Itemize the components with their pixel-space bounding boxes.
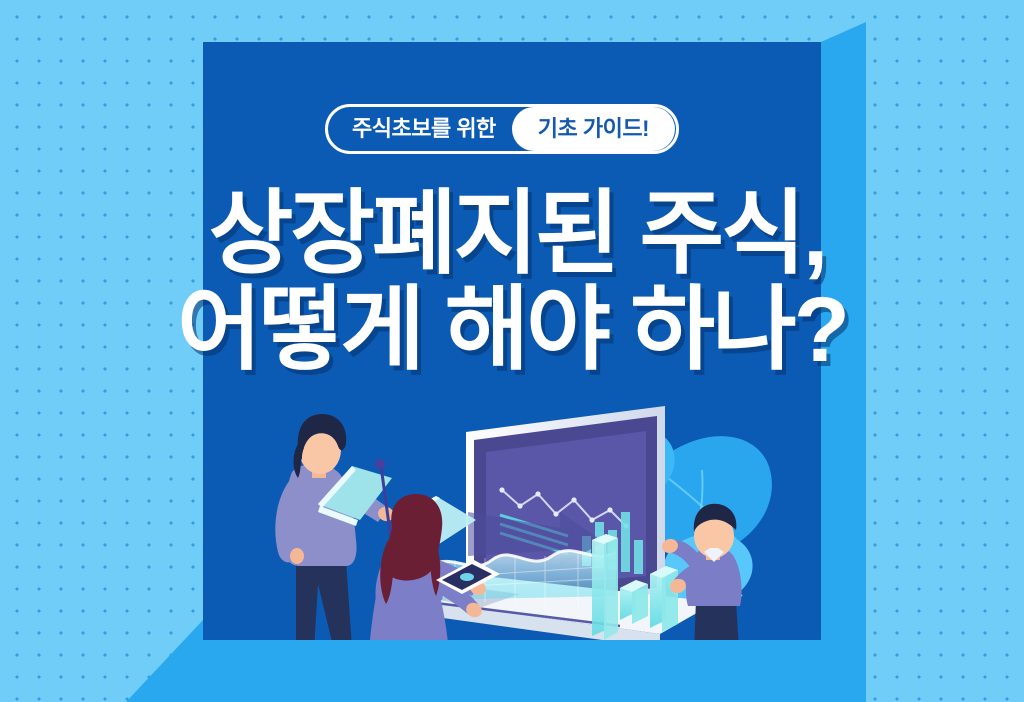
standing-woman-with-document bbox=[275, 414, 396, 690]
poster-canvas: 주식초보를 위한 기초 가이드! 상장폐지된 주식, 어떻게 해야 하나? bbox=[0, 0, 1024, 702]
badge-right-label: 기초 가이드! bbox=[512, 107, 675, 151]
guide-badge[interactable]: 주식초보를 위한 기초 가이드! bbox=[325, 104, 679, 154]
badge-left-label: 주식초보를 위한 bbox=[328, 107, 512, 151]
